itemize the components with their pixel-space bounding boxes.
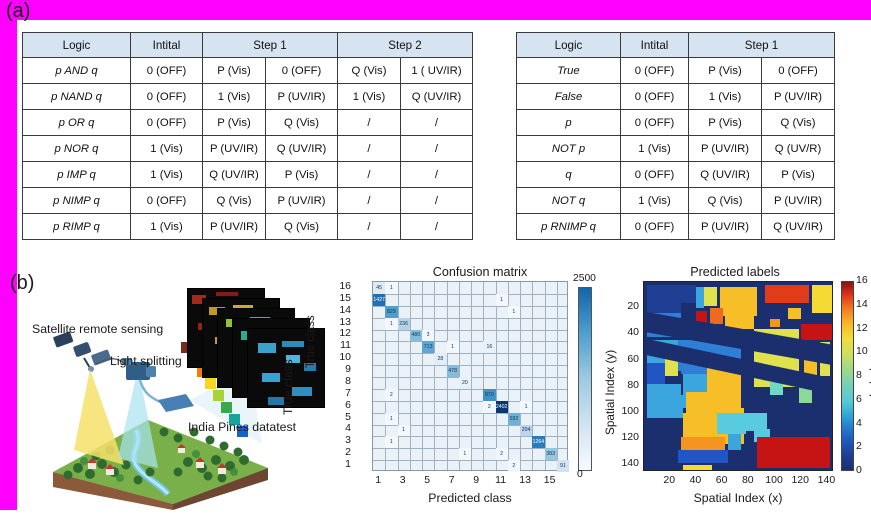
logic-name-cell: True xyxy=(517,58,621,84)
table-header-row: LogicIntitalStep 1 xyxy=(517,33,835,58)
step1-cell: P (UV/IR) xyxy=(266,84,338,110)
step1-cell: P (Vis) xyxy=(689,110,762,136)
logic-name-cell: False xyxy=(517,84,621,110)
logic-name-cell: p IMP q xyxy=(23,162,131,188)
logic-name-cell: p AND q xyxy=(23,58,131,84)
cm-y-tick-label: 5 xyxy=(311,411,351,423)
map-x-tick-label: 60 xyxy=(711,474,733,486)
initial-state-cell: 0 (OFF) xyxy=(621,58,689,84)
map-y-tick-label: 20 xyxy=(611,300,639,312)
predicted-labels-xlabel: Spatial Index (x) xyxy=(643,491,833,505)
map-region xyxy=(647,363,665,384)
step1-cell: P (UV/IR) xyxy=(203,214,266,240)
predicted-labels-colorbar xyxy=(841,281,854,471)
logic-row: True0 (OFF)P (Vis)0 (OFF) xyxy=(517,58,835,84)
gridline xyxy=(373,460,567,461)
cm-x-tick-label: 7 xyxy=(442,474,462,486)
step1-cell: 0 (OFF) xyxy=(266,58,338,84)
map-region xyxy=(717,413,746,434)
column-header-step-1: Step 1 xyxy=(203,33,338,58)
gridline xyxy=(434,282,435,470)
step1-cell: P (Vis) xyxy=(762,162,835,188)
initial-state-cell: 0 (OFF) xyxy=(621,110,689,136)
confusion-cell: 2 xyxy=(496,448,508,460)
gridline xyxy=(373,389,567,390)
map-y-tick-label: 40 xyxy=(611,326,639,338)
step1-cell: Q (Vis) xyxy=(762,110,835,136)
reflected-beam xyxy=(118,368,158,468)
confusion-matrix-grid: 4511427182911236480371311628478202970224… xyxy=(373,282,567,470)
step2-cell: / xyxy=(338,162,401,188)
confusion-matrix-panel: Confusion matrix 45114271829112364803713… xyxy=(325,265,600,510)
map-region xyxy=(757,437,830,468)
map-x-tick-label: 120 xyxy=(789,474,811,486)
column-header-step-2: Step 2 xyxy=(338,33,473,58)
initial-state-cell: 0 (OFF) xyxy=(131,84,203,110)
confusion-cell: 1 xyxy=(385,282,397,294)
step1-cell: Q (Vis) xyxy=(266,110,338,136)
colorbar-tick-label: 10 xyxy=(856,345,868,357)
step2-cell: / xyxy=(338,110,401,136)
map-region xyxy=(770,319,780,327)
cm-y-tick-label: 2 xyxy=(311,446,351,458)
initial-state-cell: 0 (OFF) xyxy=(621,214,689,240)
initial-state-cell: 0 (OFF) xyxy=(621,84,689,110)
gridline xyxy=(557,282,558,470)
step2-cell: 1 ( UV/IR) xyxy=(401,58,473,84)
cm-x-tick-label: 11 xyxy=(491,474,511,486)
map-region xyxy=(788,308,801,318)
initial-state-cell: 1 (Vis) xyxy=(621,136,689,162)
map-x-tick-label: 20 xyxy=(658,474,680,486)
confusion-matrix-title: Confusion matrix xyxy=(385,265,575,279)
cm-y-tick-label: 13 xyxy=(311,316,351,328)
step2-cell: 1 (Vis) xyxy=(338,84,401,110)
predicted-labels-title: Predicted labels xyxy=(635,265,835,279)
gridline xyxy=(398,282,399,470)
colorbar-tick-label: 16 xyxy=(856,274,868,286)
figure-page: (a) (b) LogicIntitalStep 1Step 2 p AND q… xyxy=(0,0,871,510)
map-y-tick-label: 80 xyxy=(611,379,639,391)
cm-y-tick-label: 4 xyxy=(311,422,351,434)
initial-state-cell: 1 (Vis) xyxy=(131,214,203,240)
gridline xyxy=(520,282,521,470)
logic-name-cell: p NAND q xyxy=(23,84,131,110)
gridline xyxy=(483,282,484,470)
step1-cell: 0 (OFF) xyxy=(762,58,835,84)
logic-row: p IMP q1 (Vis)Q (UV/IR)P (Vis)// xyxy=(23,162,473,188)
confusion-matrix-colorbar-min: 0 xyxy=(577,469,583,480)
step2-cell: / xyxy=(401,110,473,136)
confusion-cell: 28 xyxy=(434,353,446,365)
confusion-cell: 2 xyxy=(385,389,397,401)
map-region xyxy=(678,450,728,463)
map-region xyxy=(728,434,741,450)
step1-cell: Q (UV/IR) xyxy=(266,136,338,162)
gridline xyxy=(496,282,497,470)
map-region xyxy=(696,287,704,308)
step2-cell: / xyxy=(401,136,473,162)
step2-cell: / xyxy=(401,214,473,240)
confusion-cell: 2 xyxy=(508,460,520,472)
confusion-matrix-colorbar xyxy=(578,287,592,471)
table-header-row: LogicIntitalStep 1Step 2 xyxy=(23,33,473,58)
cm-y-tick-label: 8 xyxy=(311,375,351,387)
map-region xyxy=(812,285,833,314)
column-header-logic: Logic xyxy=(517,33,621,58)
logic-name-cell: p RNIMP q xyxy=(517,214,621,240)
logic-name-cell: p OR q xyxy=(23,110,131,136)
map-x-tick-label: 40 xyxy=(684,474,706,486)
step2-cell: / xyxy=(338,188,401,214)
confusion-cell: 204 xyxy=(520,425,532,437)
table-body: p AND q0 (OFF)P (Vis)0 (OFF)Q (Vis)1 ( U… xyxy=(23,58,473,240)
cm-y-tick-label: 1 xyxy=(311,458,351,470)
confusion-matrix-xlabel: Predicted class xyxy=(372,491,568,505)
initial-state-cell: 0 (OFF) xyxy=(131,110,203,136)
logic-row: NOT p1 (Vis)P (UV/IR)Q (UV/R) xyxy=(517,136,835,162)
confusion-cell: 1 xyxy=(447,341,459,353)
logic-row: False0 (OFF)1 (Vis)P (UV/IR) xyxy=(517,84,835,110)
gridline xyxy=(373,401,567,402)
cm-y-tick-label: 11 xyxy=(311,339,351,351)
logic-row: p RNIMP q0 (OFF)P (UV/IR)Q (UV/IR) xyxy=(517,214,835,240)
step1-cell: P (UV/IR) xyxy=(762,188,835,214)
map-y-tick-label: 100 xyxy=(611,405,639,417)
colorbar-tick-label: 4 xyxy=(856,417,862,429)
india-pines-dataset-label: India Pines datatest xyxy=(188,420,296,434)
cm-y-tick-label: 12 xyxy=(311,327,351,339)
confusion-cell: 2 xyxy=(483,401,495,413)
logic-name-cell: p xyxy=(517,110,621,136)
cm-x-tick-label: 1 xyxy=(368,474,388,486)
gridline xyxy=(373,413,567,414)
step1-cell: P (Vis) xyxy=(203,58,266,84)
gridline xyxy=(373,365,567,366)
confusion-cell: 1 xyxy=(385,436,397,448)
logic-name-cell: p NIMP q xyxy=(23,188,131,214)
initial-state-cell: 1 (Vis) xyxy=(131,136,203,162)
colorbar-tick-label: 12 xyxy=(856,322,868,334)
satellite-icon xyxy=(53,331,112,372)
predicted-labels-panel: Predicted labels Spatial Index (y) Spati… xyxy=(605,265,871,510)
gridline xyxy=(373,294,567,295)
step1-cell: Q (UV/IR) xyxy=(203,162,266,188)
step1-cell: 1 (Vis) xyxy=(689,84,762,110)
confusion-cell: 1 xyxy=(508,306,520,318)
confusion-cell: 236 xyxy=(398,318,410,330)
colorbar-tick-label: 6 xyxy=(856,393,862,405)
gridline xyxy=(459,282,460,470)
map-y-tick-label: 140 xyxy=(611,457,639,469)
map-region xyxy=(710,308,723,324)
step1-cell: Q (UV/R) xyxy=(762,136,835,162)
panel-label-a: (a) xyxy=(6,0,30,23)
cm-x-tick-label: 15 xyxy=(540,474,560,486)
map-y-tick-label: 60 xyxy=(611,353,639,365)
confusion-cell: 1264 xyxy=(532,436,544,448)
initial-state-cell: 0 (OFF) xyxy=(131,58,203,84)
confusion-cell: 45 xyxy=(373,282,385,294)
light-splitting-label: Light splitting xyxy=(110,354,182,368)
confusion-cell: 91 xyxy=(557,460,569,472)
logic-row: p NOR q1 (Vis)P (UV/IR)Q (UV/IR)// xyxy=(23,136,473,162)
gridline xyxy=(545,282,546,470)
gridline xyxy=(373,330,567,331)
gridline xyxy=(373,353,567,354)
column-header-logic: Logic xyxy=(23,33,131,58)
confusion-matrix-colorbar-max: 2500 xyxy=(573,273,596,284)
cm-x-tick-label: 9 xyxy=(466,474,486,486)
map-region xyxy=(681,285,697,303)
step1-cell: 1 (Vis) xyxy=(203,84,266,110)
confusion-cell: 592 xyxy=(508,413,520,425)
gridline xyxy=(422,282,423,470)
map-region xyxy=(801,324,833,340)
gridline xyxy=(471,282,472,470)
colorbar-tick-label: 14 xyxy=(856,298,868,310)
confusion-cell: 16 xyxy=(483,341,495,353)
predicted-labels-colorbar-label: Label xyxy=(867,368,871,397)
logic-row: p NAND q0 (OFF)1 (Vis)P (UV/IR)1 (Vis)Q … xyxy=(23,84,473,110)
initial-state-cell: 1 (Vis) xyxy=(621,188,689,214)
logic-row: p0 (OFF)P (Vis)Q (Vis) xyxy=(517,110,835,136)
logic-row: q0 (OFF)Q (UV/IR)P (Vis) xyxy=(517,162,835,188)
map-region xyxy=(683,465,712,471)
step2-cell: Q (Vis) xyxy=(338,58,401,84)
logic-row: NOT q1 (Vis)Q (Vis)P (UV/IR) xyxy=(517,188,835,214)
confusion-cell: 1 xyxy=(459,448,471,460)
logic-name-cell: q xyxy=(517,162,621,188)
step1-cell: P (Vis) xyxy=(266,162,338,188)
colorbar-tick-label: 8 xyxy=(856,369,862,381)
confusion-cell: 3 xyxy=(422,330,434,342)
step1-cell: Q (Vis) xyxy=(689,188,762,214)
logic-row: p NIMP q0 (OFF)Q (Vis)P (UV/IR)// xyxy=(23,188,473,214)
gridline xyxy=(373,306,567,307)
confusion-cell: 1 xyxy=(520,401,532,413)
confusion-cell: 1427 xyxy=(373,294,385,306)
step2-cell: / xyxy=(338,136,401,162)
sunlight-beam xyxy=(74,369,124,465)
cm-y-tick-label: 6 xyxy=(311,399,351,411)
confusion-cell: 480 xyxy=(410,330,422,342)
map-y-tick-label: 120 xyxy=(611,431,639,443)
map-x-tick-label: 140 xyxy=(815,474,837,486)
logic-row: p OR q0 (OFF)P (Vis)Q (Vis)// xyxy=(23,110,473,136)
confusion-matrix-ylabel: True class xyxy=(281,359,295,415)
column-header-intital: Intital xyxy=(131,33,203,58)
step2-cell: / xyxy=(338,214,401,240)
cm-y-tick-label: 10 xyxy=(311,351,351,363)
step1-cell: P (Vis) xyxy=(689,58,762,84)
initial-state-cell: 1 (Vis) xyxy=(131,162,203,188)
step1-cell: P (UV/IR) xyxy=(762,84,835,110)
column-header-intital: Intital xyxy=(621,33,689,58)
cm-y-tick-label: 15 xyxy=(311,292,351,304)
magenta-border-top xyxy=(0,0,871,20)
prism-icon xyxy=(158,394,194,412)
map-x-tick-label: 80 xyxy=(737,474,759,486)
confusion-cell: 1 xyxy=(385,318,397,330)
logic-row: p AND q0 (OFF)P (Vis)0 (OFF)Q (Vis)1 ( U… xyxy=(23,58,473,84)
logic-name-cell: NOT p xyxy=(517,136,621,162)
column-header-step-1: Step 1 xyxy=(689,33,835,58)
step1-cell: Q (Vis) xyxy=(266,214,338,240)
cm-x-tick-label: 13 xyxy=(515,474,535,486)
cm-y-tick-label: 14 xyxy=(311,304,351,316)
table-body: True0 (OFF)P (Vis)0 (OFF)False0 (OFF)1 (… xyxy=(517,58,835,240)
cm-y-tick-label: 7 xyxy=(311,387,351,399)
step1-cell: P (UV/IR) xyxy=(689,214,762,240)
logic-name-cell: p RIMP q xyxy=(23,214,131,240)
cm-x-tick-label: 3 xyxy=(393,474,413,486)
colorbar-tick-label: 2 xyxy=(856,440,862,452)
map-region xyxy=(720,287,757,316)
satellite-remote-sensing-label: Satellite remote sensing xyxy=(32,322,163,336)
confusion-cell: 20 xyxy=(459,377,471,389)
map-x-tick-label: 100 xyxy=(763,474,785,486)
step2-cell: / xyxy=(401,162,473,188)
predicted-labels-map xyxy=(643,281,833,471)
logic-table-right-wrapper: LogicIntitalStep 1 True0 (OFF)P (Vis)0 (… xyxy=(516,32,835,240)
confusion-cell: 1 xyxy=(398,425,410,437)
map-region xyxy=(681,437,726,450)
step1-cell: Q (UV/IR) xyxy=(689,162,762,188)
confusion-cell: 970 xyxy=(483,389,495,401)
map-region xyxy=(647,395,684,419)
step1-cell: P (UV/IR) xyxy=(266,188,338,214)
logic-table-right: LogicIntitalStep 1 True0 (OFF)P (Vis)0 (… xyxy=(516,32,835,240)
step1-cell: P (UV/IR) xyxy=(689,136,762,162)
step1-cell: P (UV/IR) xyxy=(203,136,266,162)
step1-cell: Q (UV/IR) xyxy=(762,214,835,240)
logic-name-cell: p NOR q xyxy=(23,136,131,162)
magenta-border-left xyxy=(0,0,17,510)
colorbar-tick-label: 0 xyxy=(856,464,862,476)
gridline xyxy=(410,282,411,470)
cm-y-tick-label: 16 xyxy=(311,280,351,292)
confusion-cell: 1 xyxy=(496,294,508,306)
panel-label-b: (b) xyxy=(10,272,34,295)
step2-cell: Q (UV/IR) xyxy=(401,84,473,110)
confusion-cell: 829 xyxy=(385,306,397,318)
confusion-cell: 713 xyxy=(422,341,434,353)
cm-y-tick-label: 3 xyxy=(311,434,351,446)
step1-cell: Q (Vis) xyxy=(203,188,266,214)
confusion-cell: 1 xyxy=(385,413,397,425)
initial-state-cell: 0 (OFF) xyxy=(131,188,203,214)
map-region xyxy=(765,285,810,303)
logic-row: p RIMP q1 (Vis)P (UV/IR)Q (Vis)// xyxy=(23,214,473,240)
initial-state-cell: 0 (OFF) xyxy=(621,162,689,188)
logic-table-left-wrapper: LogicIntitalStep 1Step 2 p AND q0 (OFF)P… xyxy=(22,32,473,240)
step1-cell: P (Vis) xyxy=(203,110,266,136)
step2-cell: / xyxy=(401,188,473,214)
confusion-cell: 478 xyxy=(447,365,459,377)
logic-name-cell: NOT q xyxy=(517,188,621,214)
confusion-cell: 2402 xyxy=(496,401,508,413)
map-region xyxy=(704,287,717,305)
logic-table-left: LogicIntitalStep 1Step 2 p AND q0 (OFF)P… xyxy=(22,32,473,240)
map-region xyxy=(647,285,681,314)
confusion-matrix-plot: 4511427182911236480371311628478202970224… xyxy=(372,281,568,471)
cm-y-tick-label: 9 xyxy=(311,363,351,375)
confusion-cell: 383 xyxy=(545,448,557,460)
cm-x-tick-label: 5 xyxy=(417,474,437,486)
gridline xyxy=(373,341,567,342)
